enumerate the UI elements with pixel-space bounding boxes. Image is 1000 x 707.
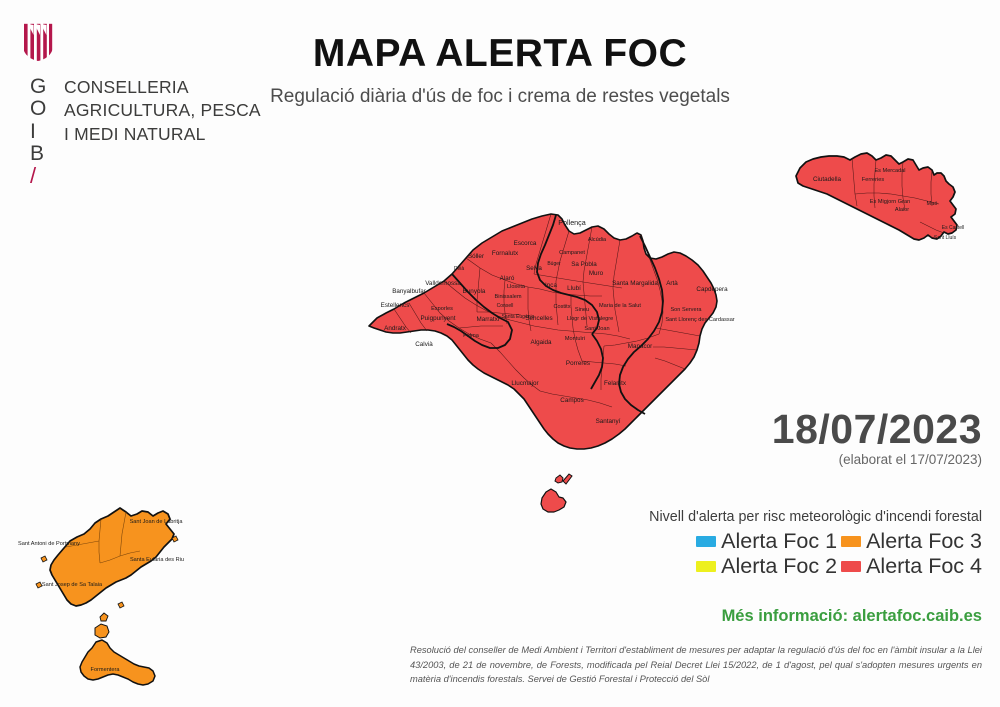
label-campanet: Campanet (559, 250, 585, 256)
label-manacor: Manacor (628, 343, 653, 350)
label-arta: Artà (666, 280, 678, 287)
island-formentera: Formentera (80, 602, 155, 685)
label-campos: Campos (560, 397, 583, 404)
legend-item-alerta-foc-3: Alerta Foc 3 (841, 530, 982, 553)
formentera-islet-north (95, 624, 109, 638)
label-alcudia: Alcúdia (588, 237, 607, 243)
more-info-link[interactable]: Més informació: alertafoc.caib.es (722, 607, 982, 626)
legend-item-alerta-foc-4: Alerta Foc 4 (841, 555, 982, 578)
legend-label-level-3: Alerta Foc 3 (866, 530, 982, 553)
label-soller: Sóller (468, 253, 484, 260)
cabrera-landmass (541, 489, 566, 512)
label-santa-eularia-des-riu: Santa Eulària des Riu (130, 557, 184, 563)
label-lloseta: Lloseta (507, 284, 526, 290)
label-algaida: Algaida (530, 339, 552, 346)
label-calvia: Calvià (415, 341, 433, 348)
label-sant-josep-de-sa-talaia: Sant Josep de Sa Talaia (42, 582, 103, 588)
label-formentera: Formentera (91, 667, 121, 673)
legend-item-alerta-foc-1: Alerta Foc 1 (696, 530, 837, 553)
legend-title: Nivell d'alerta per risc meteorològic d'… (649, 509, 982, 525)
label-es-castell: Es Castell (942, 225, 965, 231)
label-porreres: Porreres (566, 360, 590, 367)
legend-label-level-1: Alerta Foc 1 (721, 530, 837, 553)
label-sant-lluis: Sant Lluís (934, 235, 957, 241)
legend-swatch-level-1 (696, 536, 716, 547)
label-mao: Maó (927, 201, 938, 207)
label-son-servera: Son Servera (670, 307, 702, 313)
label-buger: Búger (547, 261, 561, 267)
island-eivissa: Sant Joan de Labritja Sant Antoni de Por… (18, 508, 184, 606)
island-cabrera (541, 474, 572, 512)
label-montuiri: Montuïri (565, 336, 585, 342)
label-sant-joan-de-labritja: Sant Joan de Labritja (130, 519, 184, 525)
legend-label-level-4: Alerta Foc 4 (866, 555, 982, 578)
cabrera-islet-north (555, 475, 563, 483)
label-es-mercadal: Es Mercadal (874, 168, 905, 174)
balearic-islands-map: Pollença Escorca Alcúdia Fornalutx Campa… (0, 0, 1000, 707)
eivissa-islet-west-1 (41, 556, 47, 562)
island-mallorca: Pollença Escorca Alcúdia Fornalutx Campa… (369, 214, 735, 449)
label-puigpunyent: Puigpunyent (420, 315, 455, 322)
label-sant-llorenc-des-cardassar: Sant Llorenç des Cardassar (665, 317, 734, 323)
label-es-migjorn-gran: Es Migjorn Gran (870, 199, 910, 205)
label-palma: Palma (463, 333, 480, 339)
label-santa-margalida: Santa Margalida (612, 280, 658, 287)
label-sineu: Sineu (575, 307, 589, 313)
label-llucmajor: Llucmajor (511, 380, 538, 387)
label-marratxi: Marratxí (476, 316, 499, 323)
label-llubi: Llubí (567, 285, 581, 292)
legend-swatch-level-4 (841, 561, 861, 572)
label-sa-pobla: Sa Pobla (571, 261, 597, 268)
label-sant-joan: Sant Joan (584, 326, 609, 332)
label-alaro: Alaró (500, 275, 515, 282)
label-ciutadella: Ciutadella (813, 176, 842, 183)
island-menorca: Ciutadella Es Mercadal Ferreries Es Migj… (796, 153, 964, 241)
legal-disclaimer: Resolució del conseller de Medi Ambient … (410, 643, 982, 687)
label-lloret-de-vistalegre: Llogr de Vistalegre (567, 316, 614, 322)
label-felanitx: Felanitx (604, 380, 627, 387)
label-capdepera: Capdepera (696, 286, 728, 293)
legend-label-level-2: Alerta Foc 2 (721, 555, 837, 578)
legend: Alerta Foc 1 Alerta Foc 3 Alerta Foc 2 A… (696, 530, 982, 578)
cabrera-islet-tail (563, 474, 572, 484)
label-escorca: Escorca (514, 240, 537, 247)
formentera-landmass (80, 640, 155, 685)
label-estellencs: Estellencs (381, 302, 410, 309)
label-valldemossa: Valldemossa (425, 280, 461, 287)
label-santanyi: Santanyí (596, 418, 621, 425)
legend-swatch-level-3 (841, 536, 861, 547)
label-binissalem: Binissalem (494, 294, 521, 300)
label-fornalutx: Fornalutx (492, 250, 519, 257)
formentera-islet-espalmador (100, 613, 108, 621)
label-sant-antoni-de-portmany: Sant Antoni de Portmany (18, 541, 80, 547)
label-sencelles: Sencelles (525, 315, 552, 322)
label-banyalbufar: Banyalbufar (392, 288, 426, 295)
legend-swatch-level-2 (696, 561, 716, 572)
label-ferreries: Ferreries (862, 177, 885, 183)
menorca-landmass (796, 153, 957, 240)
label-andratx: Andratx (384, 325, 407, 332)
label-muro: Muro (589, 270, 604, 277)
map-date: 18/07/2023 (772, 406, 982, 453)
legend-item-alerta-foc-2: Alerta Foc 2 (696, 555, 837, 578)
fire-alert-map-page: G O I B / CONSELLERIA AGRICULTURA, PESCA… (0, 0, 1000, 707)
label-costitx: Costitx (553, 304, 570, 310)
label-selva: Selva (526, 265, 542, 272)
label-deia: Deià (454, 266, 465, 272)
es-vedra-islet (118, 602, 124, 608)
label-alaior: Alaior (895, 207, 909, 213)
label-bunyola: Bunyola (463, 288, 486, 295)
map-date-prepared: (elaborat el 17/07/2023) (839, 452, 982, 467)
label-inca: Inca (545, 282, 557, 289)
label-consell: Consell (497, 303, 514, 309)
label-maria-de-la-salut: Maria de la Salut (599, 303, 641, 309)
label-pollenca: Pollença (558, 218, 586, 227)
label-esporles: Esporles (431, 306, 453, 312)
